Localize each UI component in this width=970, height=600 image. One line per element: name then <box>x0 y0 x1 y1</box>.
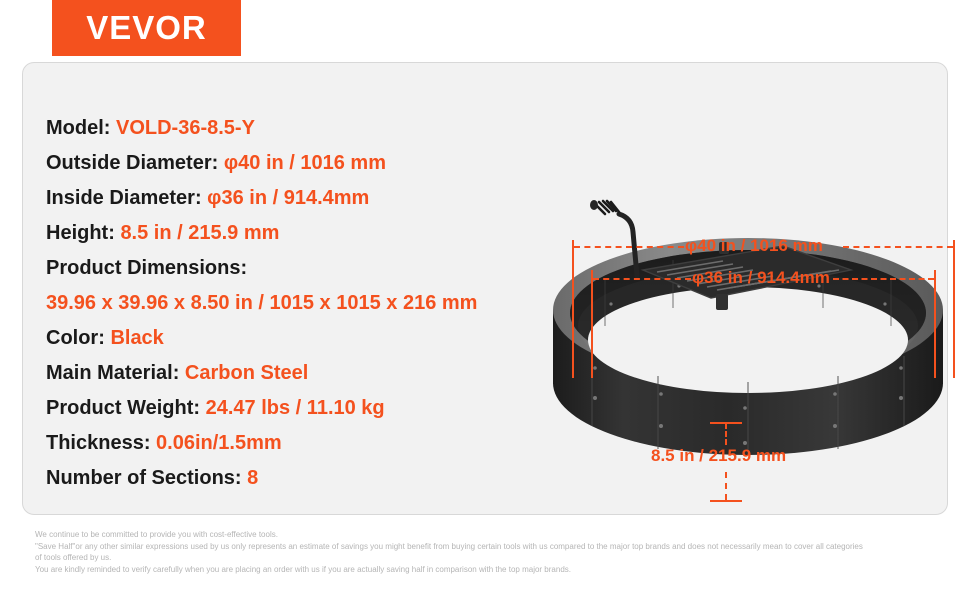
spec-value-main-material: Carbon Steel <box>185 362 308 384</box>
spec-row-product-dimensions-value: 39.96 x 39.96 x 8.50 in / 1015 x 1015 x … <box>46 286 546 321</box>
spec-label-outside-diameter: Outside Diameter: <box>46 152 224 174</box>
outer-dim-cap-right <box>953 240 955 378</box>
product-diagram: φ40 in / 1016 mm φ36 in / 914.4mm 8.5 in… <box>533 158 963 518</box>
inner-diameter-label: φ36 in / 914.4mm <box>692 268 830 288</box>
footer-line-3: of tools offered by us. <box>35 552 945 564</box>
height-dim-cap-bottom <box>710 500 742 502</box>
inner-dim-line-right <box>833 278 934 280</box>
spec-value-height: 8.5 in / 215.9 mm <box>120 222 279 244</box>
spec-label-model: Model: <box>46 117 116 139</box>
spec-value-outside-diameter: φ40 in / 1016 mm <box>224 152 386 174</box>
vevor-logo-text: VEVOR <box>86 9 207 47</box>
spec-label-color: Color: <box>46 327 110 349</box>
outer-dim-line-left <box>574 246 684 248</box>
spec-label-inside-diameter: Inside Diameter: <box>46 187 207 209</box>
spec-value-color: Black <box>110 327 163 349</box>
footer-line-2: "Save Half"or any other similar expressi… <box>35 541 945 553</box>
spec-value-product-dimensions: 39.96 x 39.96 x 8.50 in / 1015 x 1015 x … <box>46 286 477 321</box>
handle-coil <box>595 201 619 214</box>
footer-line-4: You are kindly reminded to verify carefu… <box>35 564 945 576</box>
outer-diameter-label: φ40 in / 1016 mm <box>685 236 823 256</box>
spec-row-thickness: Thickness: 0.06in/1.5mm <box>46 426 546 461</box>
spec-label-product-weight: Product Weight: <box>46 397 206 419</box>
spec-row-number-of-sections: Number of Sections: 8 <box>46 461 546 496</box>
height-dim-line-upper <box>725 423 727 445</box>
spec-row-model: Model: VOLD-36-8.5-Y <box>46 111 546 146</box>
footer-line-1: We continue to be committed to provide y… <box>35 529 945 541</box>
inner-dim-cap-left <box>591 270 593 378</box>
spec-label-product-dimensions: Product Dimensions: <box>46 257 247 279</box>
spec-card: Model: VOLD-36-8.5-Y Outside Diameter: φ… <box>22 62 948 515</box>
spec-label-number-of-sections: Number of Sections: <box>46 467 247 489</box>
spec-value-model: VOLD-36-8.5-Y <box>116 117 255 139</box>
spec-row-main-material: Main Material: Carbon Steel <box>46 356 546 391</box>
footer-disclaimer: We continue to be committed to provide y… <box>35 529 945 575</box>
spec-label-height: Height: <box>46 222 120 244</box>
spec-label-thickness: Thickness: <box>46 432 156 454</box>
inner-dim-line-left <box>593 278 691 280</box>
spec-row-height: Height: 8.5 in / 215.9 mm <box>46 216 546 251</box>
spec-row-product-dimensions: Product Dimensions: <box>46 251 546 286</box>
spec-row-outside-diameter: Outside Diameter: φ40 in / 1016 mm <box>46 146 546 181</box>
outer-dim-cap-left <box>572 240 574 378</box>
spec-row-product-weight: Product Weight: 24.47 lbs / 11.10 kg <box>46 391 546 426</box>
vevor-logo: VEVOR <box>52 0 241 56</box>
inner-dim-cap-right <box>934 270 936 378</box>
spec-value-number-of-sections: 8 <box>247 467 258 489</box>
height-label: 8.5 in / 215.9 mm <box>651 446 786 466</box>
outer-dim-line-right <box>843 246 953 248</box>
spec-row-inside-diameter: Inside Diameter: φ36 in / 914.4mm <box>46 181 546 216</box>
spec-label-main-material: Main Material: <box>46 362 185 384</box>
spec-value-thickness: 0.06in/1.5mm <box>156 432 282 454</box>
spec-value-product-weight: 24.47 lbs / 11.10 kg <box>206 397 385 419</box>
height-dim-line-lower <box>725 472 727 500</box>
spec-value-inside-diameter: φ36 in / 914.4mm <box>207 187 369 209</box>
specification-list: Model: VOLD-36-8.5-Y Outside Diameter: φ… <box>46 111 546 496</box>
spec-row-color: Color: Black <box>46 321 546 356</box>
